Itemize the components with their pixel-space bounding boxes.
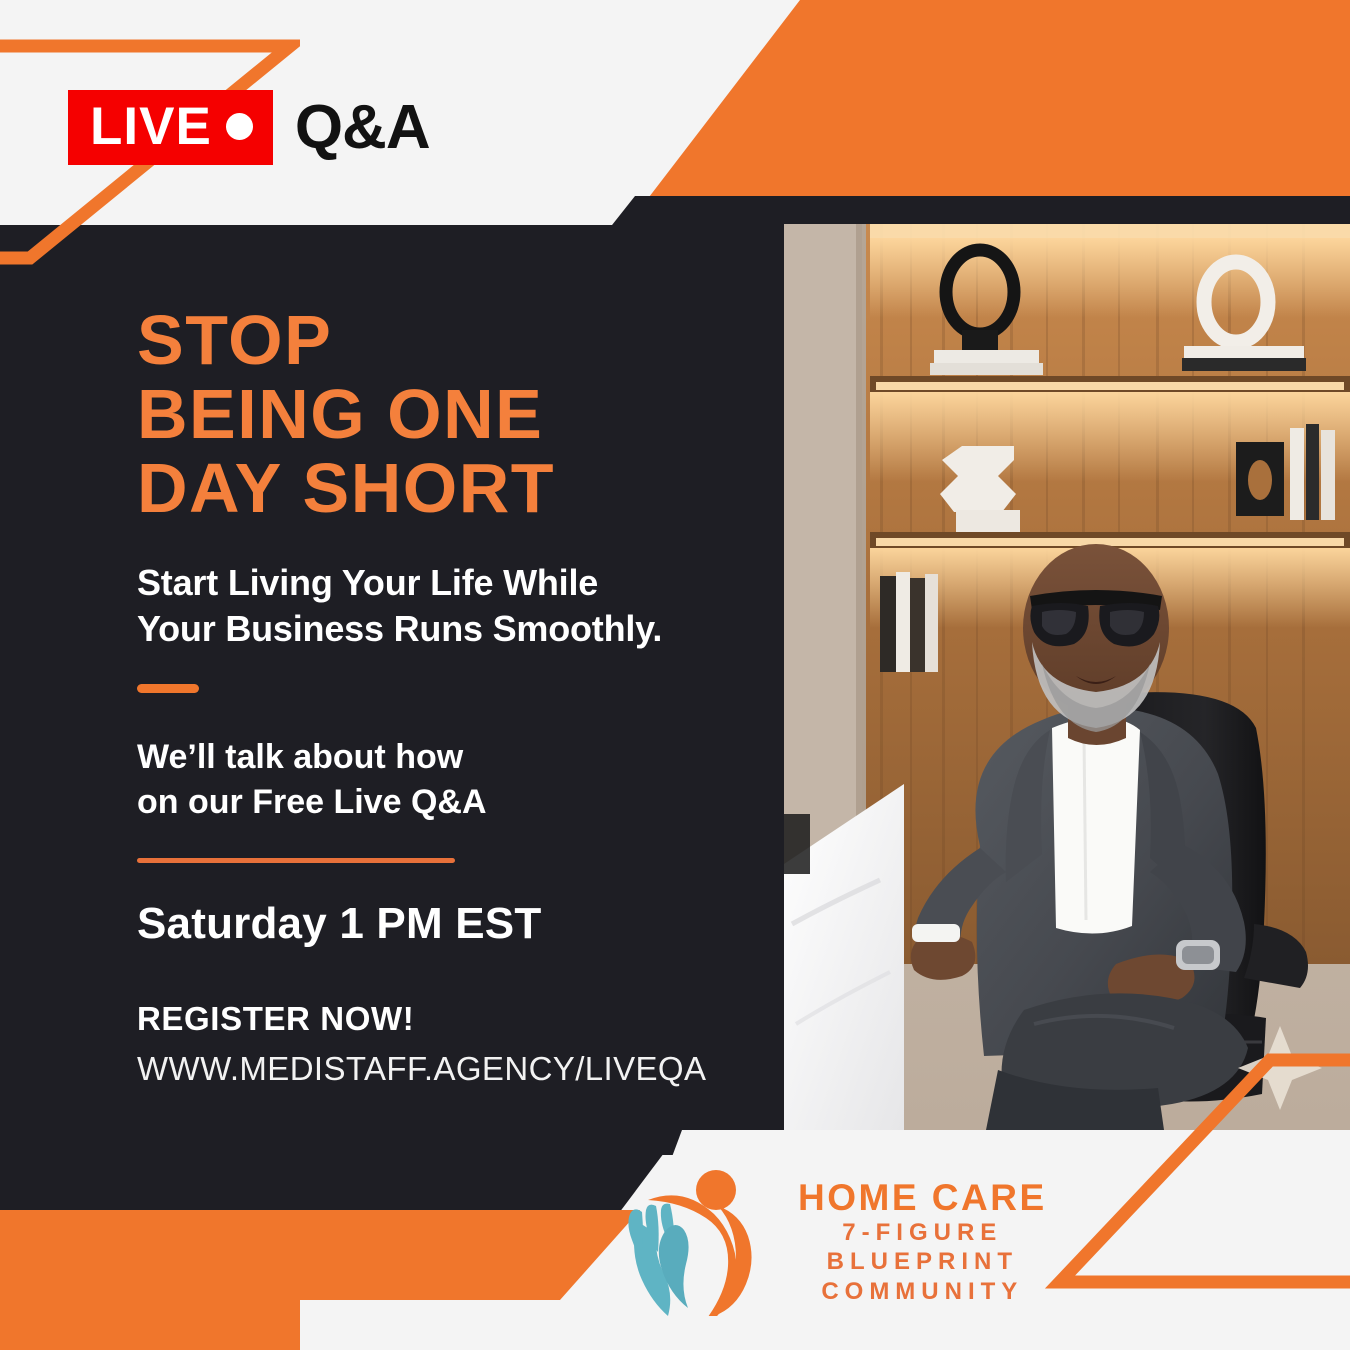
live-badge-box: LIVE xyxy=(68,90,273,165)
brand-title: HOME CARE xyxy=(798,1178,1047,1218)
brand-logo-text: HOME CARE 7-FIGURE BLUEPRINT COMMUNITY xyxy=(798,1178,1047,1306)
live-label: LIVE xyxy=(90,100,212,153)
orange-outline-parallelogram-bottom-right xyxy=(1030,1050,1350,1300)
poster-canvas: LIVE Q&A STOP BEING ONE DAY SHORT Start … xyxy=(0,0,1350,1350)
pitch-text: We’ll talk about how on our Free Live Q&… xyxy=(137,735,767,825)
schedule-text: Saturday 1 PM EST xyxy=(137,900,767,948)
bottom-left-orange-foot xyxy=(0,1290,300,1350)
subheadline: Start Living Your Life While Your Busine… xyxy=(137,560,767,652)
pitch-line-2: on our Free Live Q&A xyxy=(137,780,767,825)
headline-line-3: DAY SHORT xyxy=(137,451,767,525)
short-orange-divider xyxy=(137,684,199,693)
copy-block: STOP BEING ONE DAY SHORT Start Living Yo… xyxy=(137,303,767,1087)
page-title: STOP BEING ONE DAY SHORT xyxy=(137,303,767,526)
dark-panel-diagonal-extension xyxy=(0,1105,700,1225)
subheadline-line-1: Start Living Your Life While xyxy=(137,560,767,606)
register-now-label: REGISTER NOW! xyxy=(137,1001,767,1037)
brand-subtitle-line-2: BLUEPRINT xyxy=(798,1247,1047,1276)
heart-hand-person-icon xyxy=(620,1168,780,1316)
brand-subtitle-line-1: 7-FIGURE xyxy=(798,1218,1047,1247)
headline-line-1: STOP xyxy=(137,303,767,377)
headline-line-2: BEING ONE xyxy=(137,377,767,451)
long-orange-divider xyxy=(137,858,455,863)
bottom-left-orange-band xyxy=(0,1210,640,1300)
registration-url[interactable]: WWW.MEDISTAFF.AGENCY/LIVEQA xyxy=(137,1051,767,1087)
pitch-line-1: We’ll talk about how xyxy=(137,735,767,780)
live-dot-icon xyxy=(226,113,253,140)
brand-subtitle-line-3: COMMUNITY xyxy=(798,1277,1047,1306)
subheadline-line-2: Your Business Runs Smoothly. xyxy=(137,606,767,652)
man-in-suit-seated-office-photo xyxy=(784,224,1350,1130)
brand-subtitle: 7-FIGURE BLUEPRINT COMMUNITY xyxy=(798,1218,1047,1306)
live-qa-badge: LIVE Q&A xyxy=(68,90,430,165)
qa-label: Q&A xyxy=(295,97,430,159)
brand-logo: HOME CARE 7-FIGURE BLUEPRINT COMMUNITY xyxy=(620,1168,1047,1316)
